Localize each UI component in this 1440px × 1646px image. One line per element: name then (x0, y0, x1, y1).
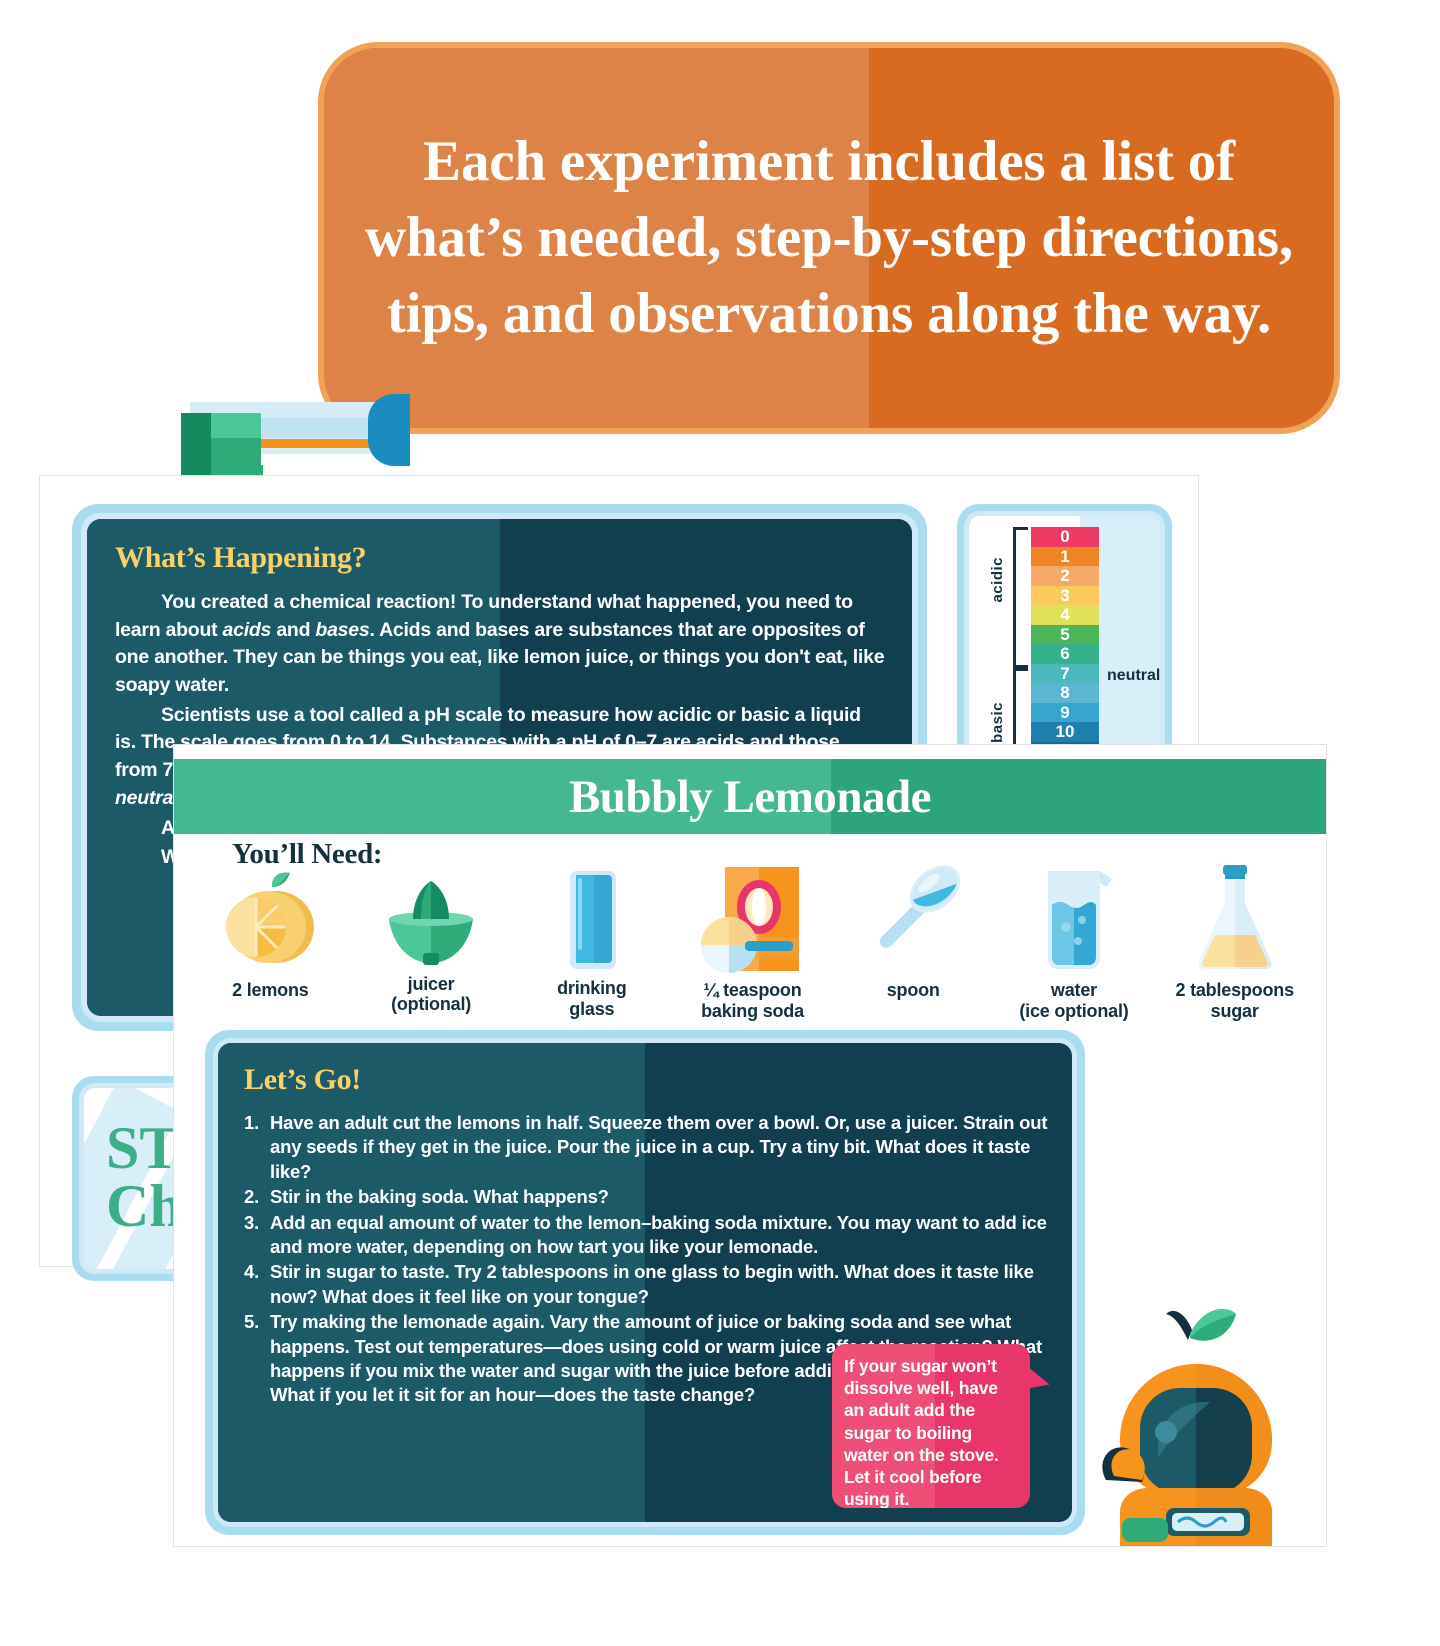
tip-callout: If your sugar won’t dissolve well, have … (832, 1344, 1030, 1508)
step-item: 4.Stir in sugar to taste. Try 2 tablespo… (244, 1260, 1048, 1309)
lets-go-heading: Let’s Go! (244, 1063, 1048, 1097)
ph-row-2: 2 (1031, 566, 1099, 586)
step-number: 4. (244, 1260, 259, 1284)
step-number: 3. (244, 1211, 259, 1235)
step-number: 1. (244, 1111, 259, 1135)
basic-label: basic (989, 702, 1006, 743)
step-item: 1.Have an adult cut the lemons in half. … (244, 1111, 1048, 1184)
step-number: 2. (244, 1185, 259, 1209)
ph-row-0: 0 (1031, 527, 1099, 547)
ingredient-water: water(ice optional) (994, 865, 1155, 1015)
ph-row-9: 9 (1031, 703, 1099, 723)
ph-row-3: 3 (1031, 586, 1099, 606)
step-item: 2.Stir in the baking soda. What happens? (244, 1185, 1048, 1209)
drinking-glass-icon (532, 865, 652, 971)
tip-callout-text: If your sugar won’t dissolve well, have … (832, 1344, 1030, 1508)
ph-scale-side: neutral (1099, 527, 1160, 781)
ingredient-label: water(ice optional) (1019, 980, 1128, 1021)
lemon-icon (210, 865, 330, 973)
ph-row-6: 6 (1031, 644, 1099, 664)
ph-row-7: 7 (1031, 664, 1099, 684)
water-beaker-icon (1014, 865, 1134, 973)
spoon-icon (853, 865, 973, 973)
callout-banner: Each experiment includes a list of what’… (318, 42, 1340, 434)
cube-face-dark (181, 413, 213, 485)
pipe-cap-icon (368, 394, 410, 466)
experiment-title-bar: Bubbly Lemonade (174, 759, 1326, 834)
step-number: 5. (244, 1310, 259, 1334)
baking-soda-box-icon (687, 865, 819, 973)
callout-banner-inner: Each experiment includes a list of what’… (324, 48, 1334, 428)
ph-row-1: 1 (1031, 547, 1099, 567)
ingredient-label: 2 tablespoonssugar (1175, 980, 1293, 1021)
whats-happening-paragraph-1: You created a chemical reaction! To unde… (115, 589, 886, 700)
ingredient-label: drinkingglass (557, 978, 626, 1019)
ph-scale-wrap: acidic basic 0123456789101112 neutral (969, 516, 1160, 781)
ph-scale-brackets: acidic basic (969, 527, 1031, 781)
ingredient-label: spoon (887, 980, 940, 1001)
ingredient-sugar: 2 tablespoonssugar (1154, 865, 1315, 1015)
whats-happening-heading: What’s Happening? (115, 541, 886, 575)
ph-row-10: 10 (1031, 722, 1099, 742)
ingredient-baking-soda: ¼ teaspoonbaking soda (672, 865, 833, 1015)
ingredient-spoon: spoon (833, 865, 994, 1015)
ph-scale-bars: 0123456789101112 (1031, 527, 1099, 781)
step-text: Stir in the baking soda. What happens? (270, 1186, 609, 1207)
ingredient-label: ¼ teaspoonbaking soda (701, 980, 804, 1021)
ph-row-4: 4 (1031, 605, 1099, 625)
pipe-connector-graphic (80, 190, 340, 480)
ingredient-lemon: 2 lemons (190, 865, 351, 1015)
acidic-bracket (1013, 527, 1028, 668)
step-text: Stir in sugar to taste. Try 2 tablespoon… (270, 1261, 1034, 1306)
banner-text: Each experiment includes a list of what’… (324, 48, 1334, 428)
experiment-title: Bubbly Lemonade (174, 759, 1326, 834)
ph-row-5: 5 (1031, 625, 1099, 645)
ingredient-label: 2 lemons (232, 980, 308, 1001)
step-item: 3.Add an equal amount of water to the le… (244, 1211, 1048, 1260)
ph-row-8: 8 (1031, 683, 1099, 703)
ingredient-label: juicer(optional) (391, 974, 471, 1015)
ingredient-drinking-glass: drinkingglass (511, 865, 672, 1015)
ingredients-row: 2 lemons juicer(optional) drinkinggl (190, 865, 1315, 1015)
ingredient-juicer: juicer(optional) (351, 865, 512, 1015)
step-text: Add an equal amount of water to the lemo… (270, 1212, 1047, 1257)
orange-astronaut-mascot (1070, 1280, 1320, 1546)
acidic-label: acidic (989, 557, 1006, 603)
neutral-label: neutral (1107, 667, 1160, 685)
juicer-icon (371, 865, 491, 967)
sugar-flask-icon (1175, 865, 1295, 973)
step-text: Have an adult cut the lemons in half. Sq… (270, 1112, 1047, 1182)
